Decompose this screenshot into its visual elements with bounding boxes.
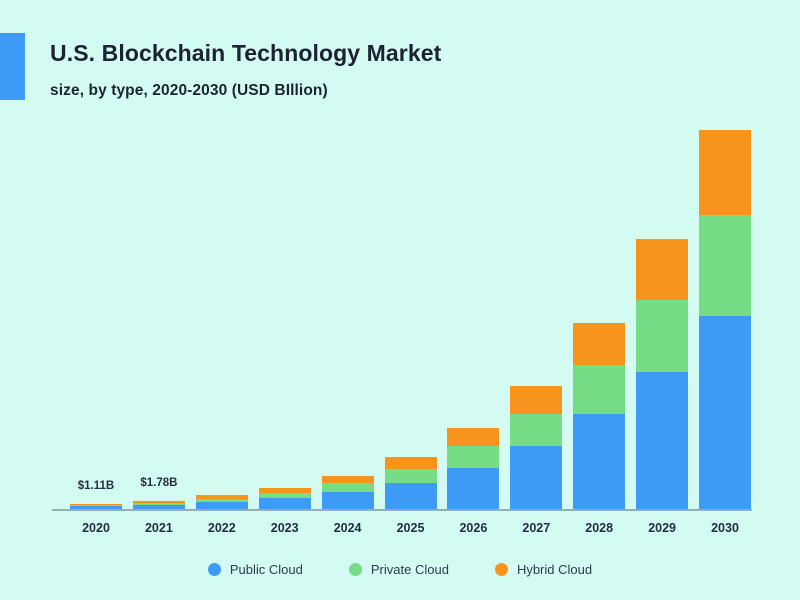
bar-2029[interactable] xyxy=(636,239,688,509)
bar-2028[interactable] xyxy=(573,323,625,509)
legend-item-public-cloud[interactable]: Public Cloud xyxy=(208,562,303,577)
bar-segment-public-cloud-2020[interactable] xyxy=(70,506,122,509)
bar-segment-public-cloud-2026[interactable] xyxy=(447,468,499,509)
bar-segment-private-cloud-2028[interactable] xyxy=(573,365,625,415)
circle-icon xyxy=(495,563,508,576)
bar-2030[interactable] xyxy=(699,130,751,509)
x-axis-line xyxy=(52,509,752,511)
bar-2026[interactable] xyxy=(447,428,499,509)
circle-icon xyxy=(349,563,362,576)
bar-segment-public-cloud-2025[interactable] xyxy=(385,483,437,509)
bar-2020[interactable] xyxy=(70,504,122,509)
bar-2025[interactable] xyxy=(385,457,437,509)
bar-2024[interactable] xyxy=(322,476,374,509)
bar-2022[interactable] xyxy=(196,495,248,509)
bar-2023[interactable] xyxy=(259,488,311,509)
legend-item-hybrid-cloud[interactable]: Hybrid Cloud xyxy=(495,562,592,577)
bar-segment-private-cloud-2026[interactable] xyxy=(447,446,499,468)
bar-segment-public-cloud-2030[interactable] xyxy=(699,316,751,509)
bar-segment-public-cloud-2029[interactable] xyxy=(636,372,688,509)
bar-segment-hybrid-cloud-2020[interactable] xyxy=(70,504,122,505)
bar-segment-public-cloud-2028[interactable] xyxy=(573,414,625,509)
bar-segment-hybrid-cloud-2022[interactable] xyxy=(196,495,248,498)
bar-segment-hybrid-cloud-2024[interactable] xyxy=(322,476,374,484)
circle-icon xyxy=(208,563,221,576)
bar-segment-private-cloud-2027[interactable] xyxy=(510,414,562,447)
bar-segment-private-cloud-2023[interactable] xyxy=(259,493,311,499)
bar-value-label-2021: $1.78B xyxy=(99,477,219,489)
bar-segment-hybrid-cloud-2029[interactable] xyxy=(636,239,688,299)
bar-segment-public-cloud-2027[interactable] xyxy=(510,446,562,509)
bar-segment-hybrid-cloud-2021[interactable] xyxy=(133,501,185,503)
bar-segment-hybrid-cloud-2023[interactable] xyxy=(259,488,311,493)
bar-segment-private-cloud-2024[interactable] xyxy=(322,483,374,492)
bar-segment-hybrid-cloud-2027[interactable] xyxy=(510,386,562,414)
bar-segment-public-cloud-2023[interactable] xyxy=(259,498,311,509)
bar-segment-private-cloud-2029[interactable] xyxy=(636,300,688,372)
bar-segment-private-cloud-2030[interactable] xyxy=(699,215,751,316)
legend-label: Private Cloud xyxy=(371,562,449,577)
chart-plot-area: $1.11B$1.78B 202020212022202320242025202… xyxy=(0,0,800,600)
x-tick-2030: 2030 xyxy=(665,521,785,535)
bar-segment-private-cloud-2021[interactable] xyxy=(133,503,185,505)
bar-segment-public-cloud-2024[interactable] xyxy=(322,492,374,509)
bar-segment-public-cloud-2022[interactable] xyxy=(196,502,248,509)
legend-item-private-cloud[interactable]: Private Cloud xyxy=(349,562,449,577)
bar-segment-hybrid-cloud-2026[interactable] xyxy=(447,428,499,446)
bar-2021[interactable] xyxy=(133,501,185,509)
legend-label: Public Cloud xyxy=(230,562,303,577)
chart-legend: Public CloudPrivate CloudHybrid Cloud xyxy=(0,562,800,577)
bar-segment-public-cloud-2021[interactable] xyxy=(133,505,185,509)
legend-label: Hybrid Cloud xyxy=(517,562,592,577)
bar-segment-private-cloud-2025[interactable] xyxy=(385,469,437,483)
bar-segment-private-cloud-2020[interactable] xyxy=(70,505,122,506)
bar-2027[interactable] xyxy=(510,386,562,509)
bar-segment-hybrid-cloud-2025[interactable] xyxy=(385,457,437,469)
bar-segment-hybrid-cloud-2030[interactable] xyxy=(699,130,751,215)
bar-segment-private-cloud-2022[interactable] xyxy=(196,499,248,503)
bar-segment-hybrid-cloud-2028[interactable] xyxy=(573,323,625,365)
